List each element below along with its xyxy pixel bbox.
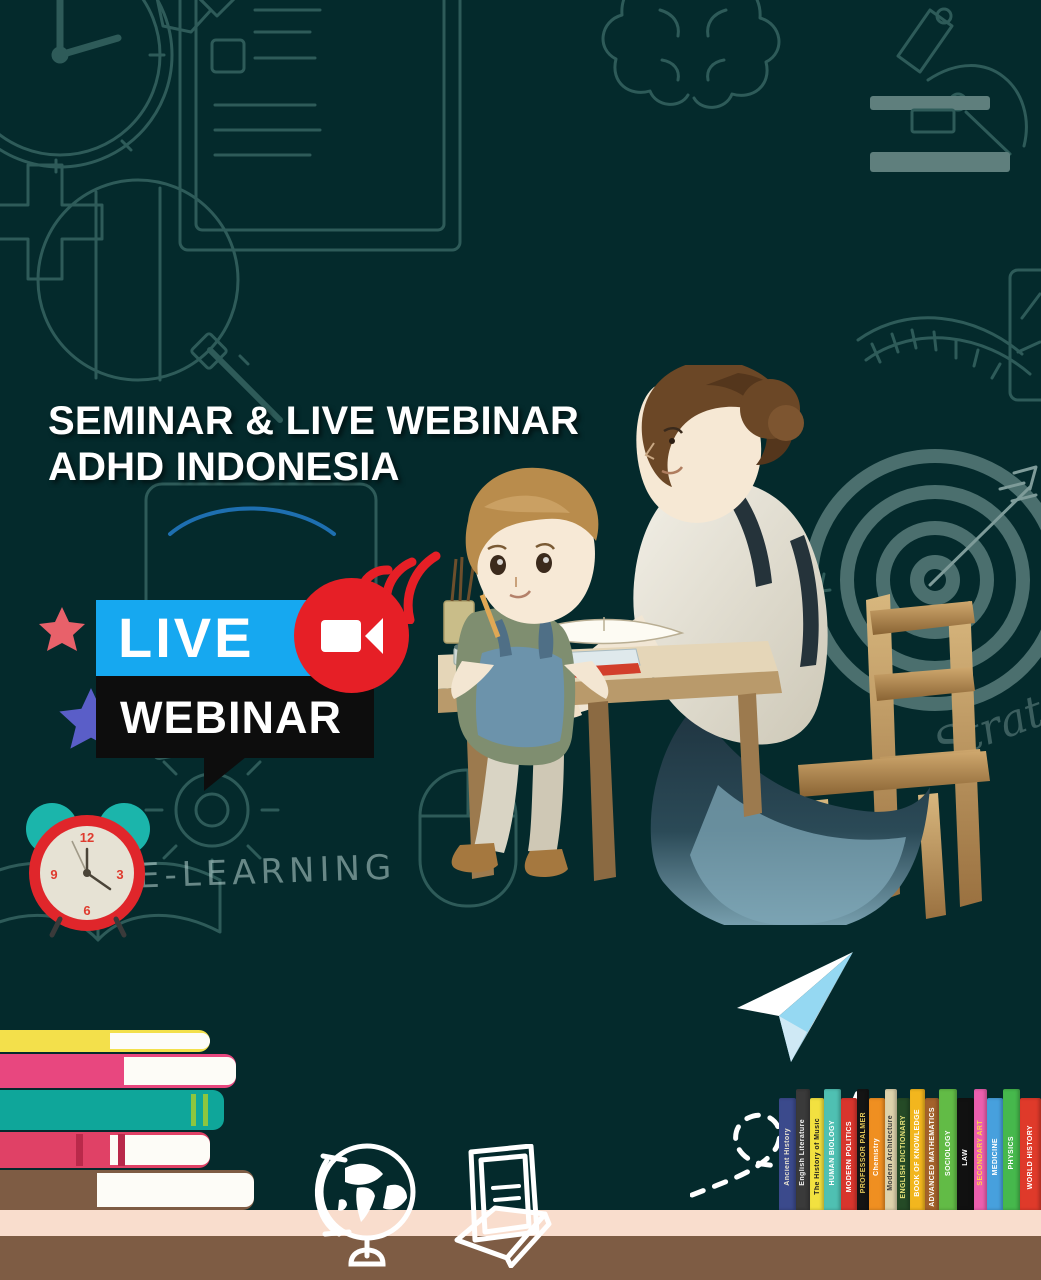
book-spine: BOOK OF KNOWLEDGE	[910, 1089, 925, 1210]
book-spine-title: MEDICINE	[992, 1132, 999, 1175]
book-spine-title: ENGLISH DICTIONARY	[900, 1109, 907, 1199]
book-stack-item	[0, 1090, 224, 1130]
book-stack	[0, 1030, 262, 1210]
book-spine-title: SECONDARY ART	[977, 1114, 984, 1186]
book-spine: Chemistry	[869, 1098, 885, 1210]
book-spine: WORLD HISTORY	[1020, 1098, 1041, 1210]
book-spine: The History of Music	[810, 1098, 825, 1210]
book-spine: PHYSICS	[1003, 1089, 1020, 1210]
clipboard-doodle	[180, 0, 460, 250]
live-label: LIVE	[118, 610, 254, 666]
chalk-text-elearning: E-LEARNING	[137, 848, 397, 897]
book-spine: MODERN POLITICS	[841, 1098, 857, 1210]
title-line-1: SEMINAR & LIVE WEBINAR	[48, 398, 579, 444]
book-spine-title: MODERN POLITICS	[846, 1115, 853, 1192]
book-spine-title: Ancient History	[784, 1122, 791, 1186]
webinar-label: WEBINAR	[120, 695, 342, 740]
plus-doodle	[0, 165, 102, 279]
book-spine: LAW	[957, 1098, 974, 1210]
book-spine-title: BOOK OF KNOWLEDGE	[914, 1103, 921, 1197]
book-spine-title: PROFESSOR PALMER	[860, 1106, 867, 1193]
book-spine-title: SOCIOLOGY	[945, 1124, 952, 1176]
clock-numeral-6: 6	[83, 903, 90, 918]
paper-plane-icon	[735, 950, 855, 1065]
clock-numeral-3: 3	[116, 867, 123, 882]
speech-bubble-tail	[204, 757, 246, 791]
book-spine: English Literature	[796, 1089, 810, 1210]
open-book-stand-icon	[445, 1144, 553, 1268]
clock-numeral-9: 9	[50, 867, 57, 882]
book-spine: Ancient History	[779, 1098, 796, 1210]
book-stack-item	[0, 1170, 254, 1210]
clock-numeral-12: 12	[80, 830, 94, 845]
alarm-clock-icon: 12 3 6 9	[12, 795, 162, 945]
book-stack-item	[0, 1054, 236, 1088]
book-spine: ADVANCED MATHEMATICS	[925, 1098, 939, 1210]
bookshelf-spines: Ancient HistoryEnglish LiteratureThe His…	[779, 1088, 1041, 1210]
brain-doodle	[603, 0, 779, 107]
book-spine: SECONDARY ART	[974, 1089, 987, 1210]
book-pages	[124, 1057, 236, 1085]
book-spine: ENGLISH DICTIONARY	[897, 1098, 911, 1210]
book-spine: MEDICINE	[987, 1098, 1004, 1210]
poster-canvas: SEMINAR & LIVE WEBINAR ADHD INDONESIA	[0, 0, 1041, 1280]
video-camera-icon	[321, 616, 383, 656]
book-spine-title: The History of Music	[814, 1112, 821, 1195]
book-spine: PROFESSOR PALMER	[857, 1089, 869, 1210]
clock-doodle	[0, 0, 172, 172]
live-webinar-badge[interactable]: LIVE WEBINAR	[96, 560, 436, 775]
book-spine: HUMAN BIOLOGY	[824, 1089, 841, 1210]
book-spine: Modern Architecture	[885, 1089, 897, 1210]
book-spine-title: PHYSICS	[1008, 1130, 1015, 1170]
star-red-icon	[38, 604, 86, 652]
book-spine-title: ADVANCED MATHEMATICS	[929, 1101, 936, 1207]
book-pages	[97, 1173, 254, 1207]
book-spine-title: Modern Architecture	[887, 1109, 894, 1191]
pencil-doodle	[157, 0, 243, 32]
book-spine-title: English Literature	[799, 1113, 806, 1186]
book-spine-title: HUMAN BIOLOGY	[829, 1114, 836, 1185]
video-camera-button[interactable]	[294, 578, 409, 693]
book-spine-title: WORLD HISTORY	[1027, 1119, 1034, 1189]
globe-icon	[305, 1138, 433, 1268]
book-spine-title: LAW	[962, 1143, 969, 1166]
book-spine-title: Chemistry	[873, 1132, 880, 1176]
microscope-doodle	[870, 9, 1026, 172]
magnifier-doodle	[38, 180, 280, 420]
book-pages	[110, 1033, 210, 1049]
book-stack-item	[0, 1132, 210, 1168]
book-stack-item	[0, 1030, 210, 1052]
page-title: SEMINAR & LIVE WEBINAR ADHD INDONESIA	[48, 398, 579, 491]
book-spine: SOCIOLOGY	[939, 1089, 957, 1210]
title-line-2: ADHD INDONESIA	[48, 444, 579, 490]
screen-doodle	[1010, 270, 1041, 400]
